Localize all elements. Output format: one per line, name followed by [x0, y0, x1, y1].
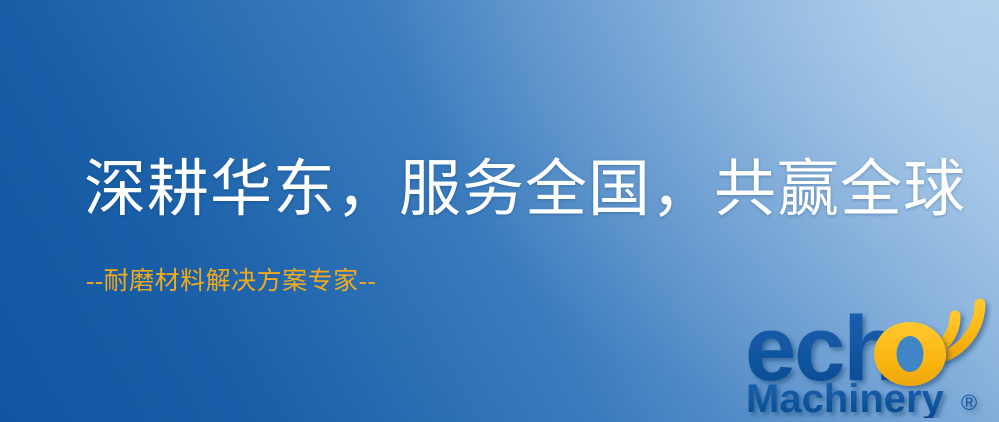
svg-text:Machinery: Machinery	[746, 377, 945, 418]
banner-subtitle: --耐磨材料解决方案专家--	[86, 266, 376, 298]
echo-machinery-logo: ech Machinery ®	[742, 292, 994, 418]
logo-svg: ech Machinery ®	[742, 292, 994, 418]
registered-mark: ®	[961, 390, 977, 415]
logo-tagline: Machinery ®	[746, 377, 977, 418]
banner-headline: 深耕华东，服务全国，共赢全球	[84, 152, 966, 228]
promo-banner: 深耕华东，服务全国，共赢全球 --耐磨材料解决方案专家--	[0, 0, 999, 422]
